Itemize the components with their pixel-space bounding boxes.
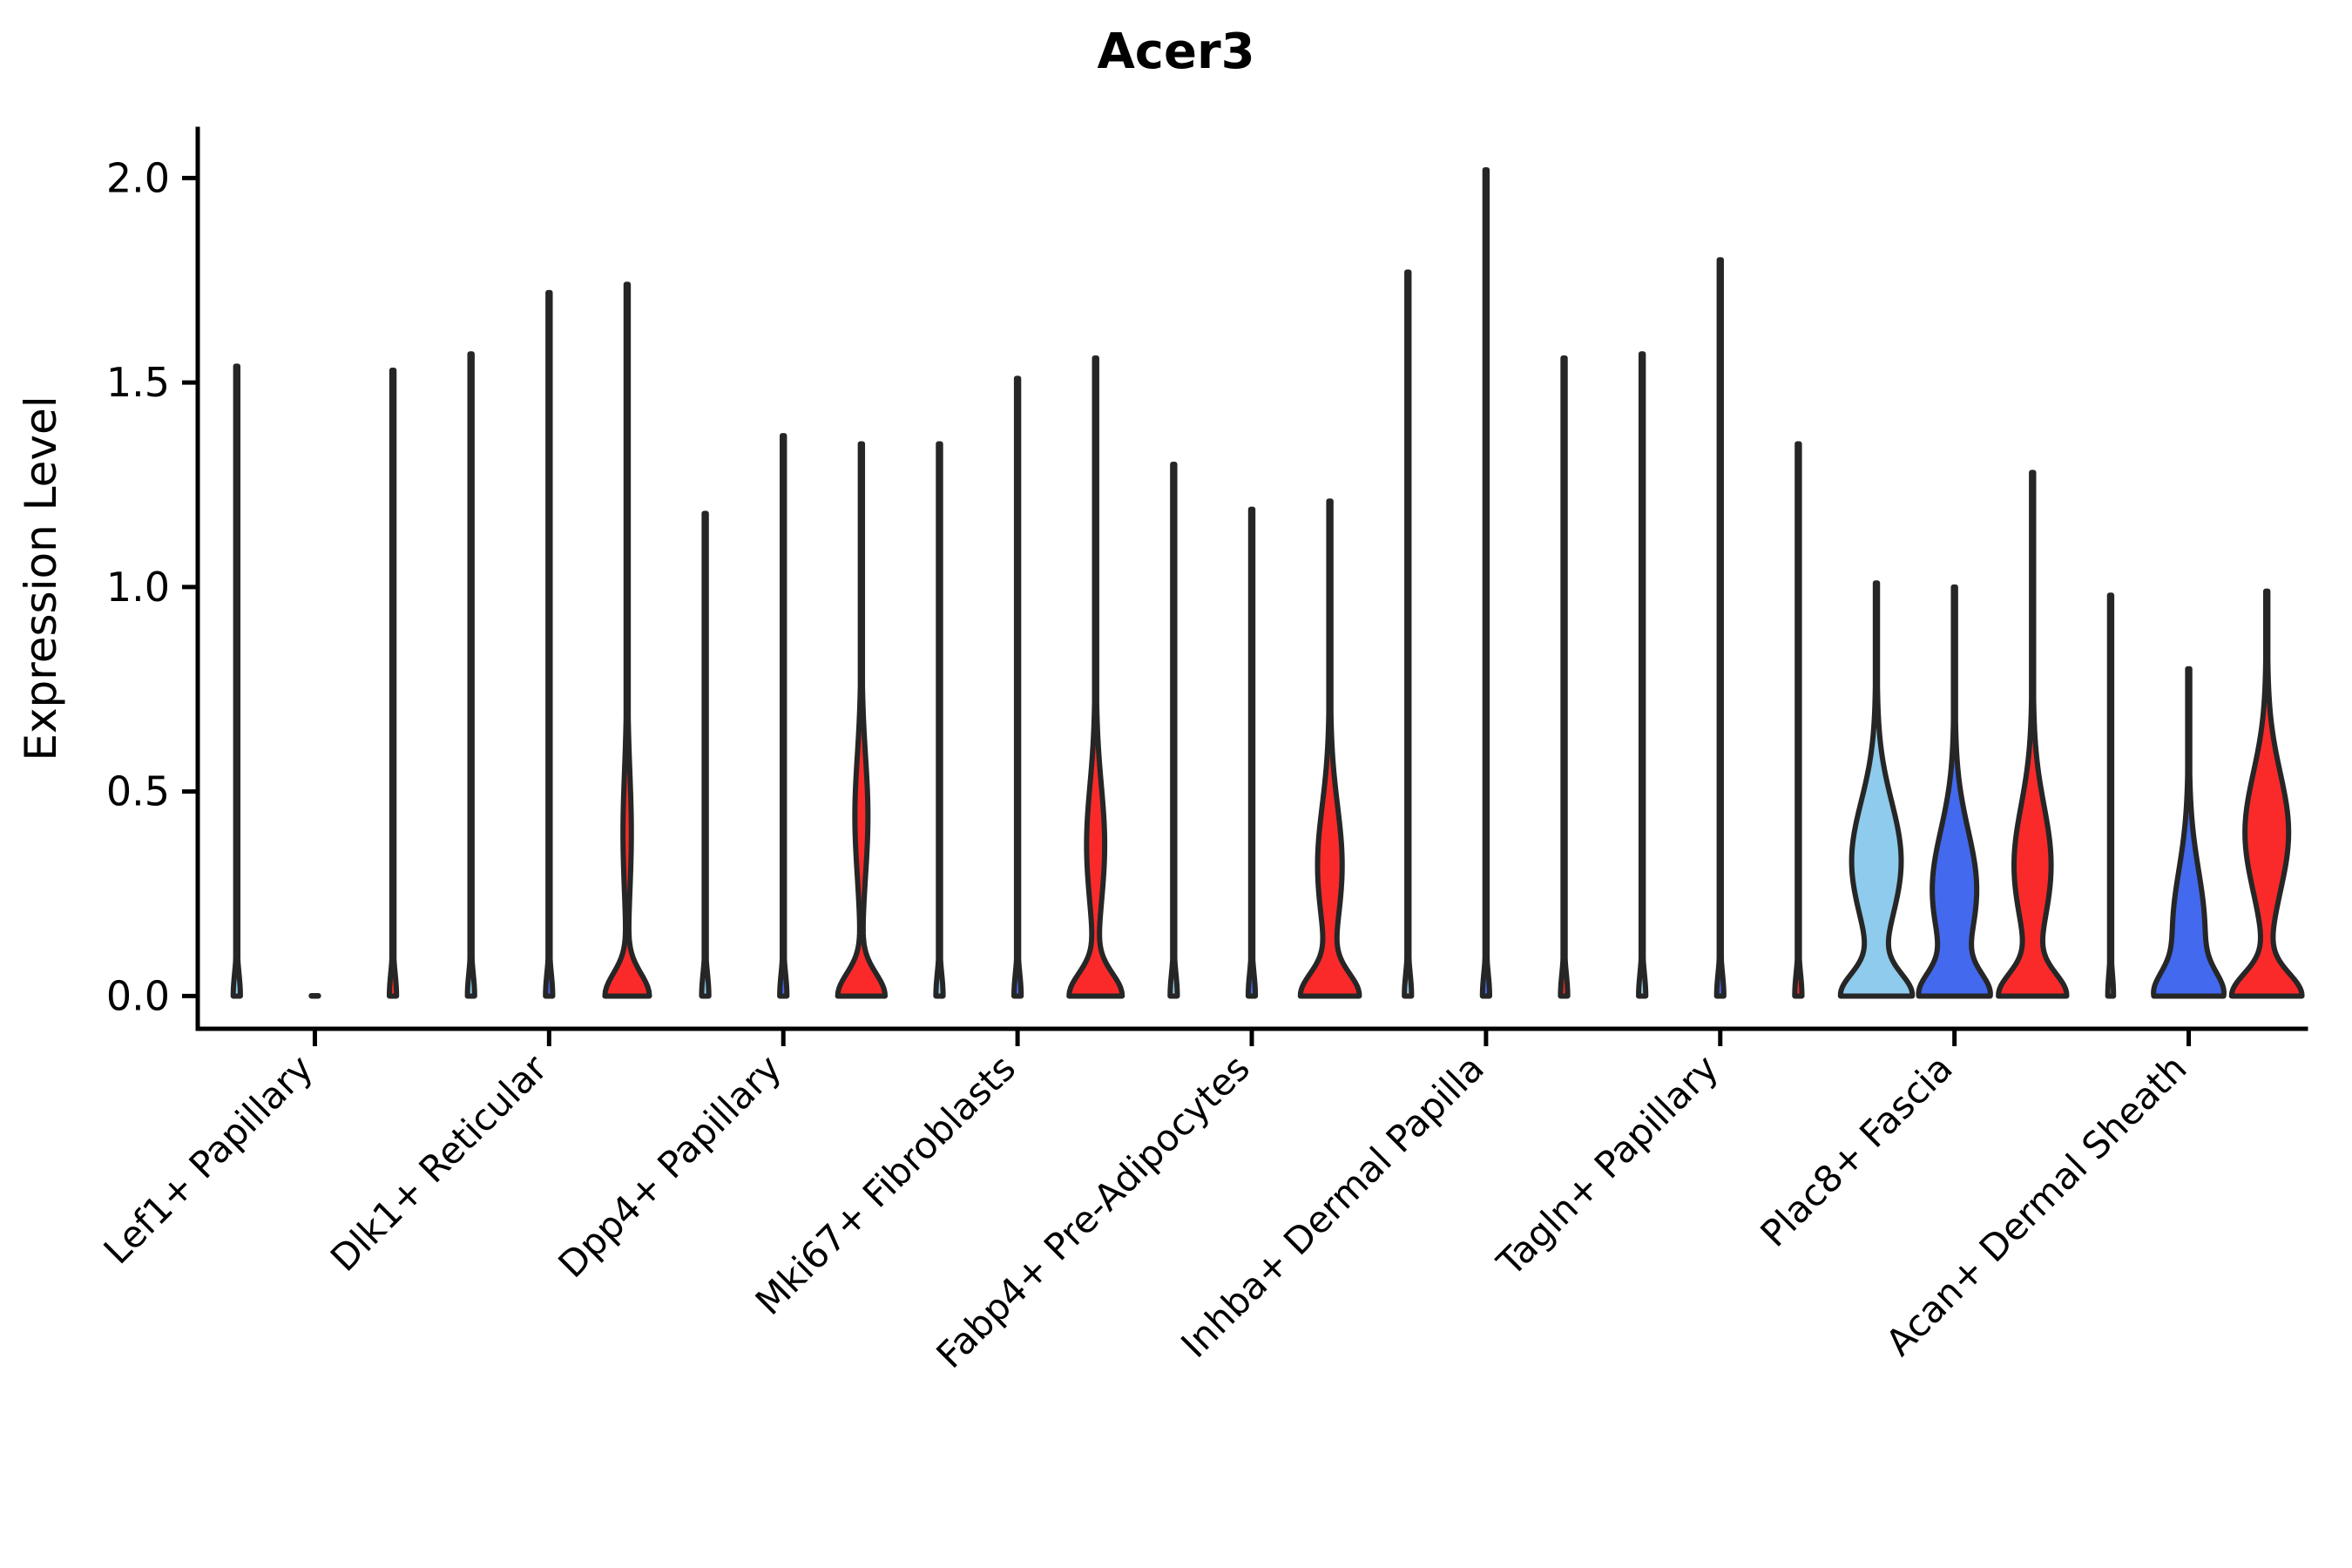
violin-plot-svg: Acer3 Expression Level 0.00.51.01.52.0 L… xyxy=(0,0,2352,1568)
violin-group-2 xyxy=(1248,510,1255,997)
page-title: Acer3 xyxy=(1097,24,1254,80)
violin-group-1 xyxy=(468,354,475,996)
x-tick-label: Tagln+ Papillary xyxy=(1488,1046,1726,1284)
violin-group-2 xyxy=(1918,587,1990,997)
y-tick-label: 0.5 xyxy=(106,768,170,815)
violin-group-3 xyxy=(1069,358,1122,996)
violin-group-1 xyxy=(1639,354,1646,996)
violin-group-1 xyxy=(936,444,943,997)
violin-group-1 xyxy=(1841,583,1912,996)
violin-group xyxy=(1639,260,1802,996)
violin-group-3 xyxy=(1560,358,1567,996)
violin-group xyxy=(233,366,397,996)
violin-group-2 xyxy=(780,436,787,996)
y-tick-label: 2.0 xyxy=(106,154,170,201)
violin-group-1 xyxy=(1170,464,1177,996)
violin-group-1 xyxy=(2108,595,2114,996)
x-tick-label: Lef1+ Papillary xyxy=(96,1046,321,1272)
x-axis-ticks: Lef1+ PapillaryDlk1+ ReticularDpp4+ Papi… xyxy=(96,1029,2195,1376)
x-tick-label: Dlk1+ Reticular xyxy=(322,1046,556,1280)
violin-group-1 xyxy=(701,513,708,996)
violin-group-3 xyxy=(1794,444,1801,997)
violin-group-3 xyxy=(1998,472,2066,996)
violin-group xyxy=(1170,464,1359,996)
x-tick-label: Dpp4+ Papillary xyxy=(550,1046,789,1286)
violin-group-2 xyxy=(545,293,552,997)
violin-group-3 xyxy=(605,284,649,996)
violin-group-1 xyxy=(1404,272,1411,996)
violin-group xyxy=(2108,591,2302,997)
violin-group-3 xyxy=(2232,591,2302,997)
violin-group xyxy=(936,358,1122,996)
violin-group xyxy=(1404,170,1568,996)
violin-group-2 xyxy=(1717,260,1724,996)
x-tick-label: Plac8+ Fascia xyxy=(1752,1046,1960,1254)
violin-group-3 xyxy=(1301,501,1360,996)
violin-group-2 xyxy=(2153,669,2224,997)
y-tick-label: 1.5 xyxy=(106,359,170,406)
y-axis-ticks: 0.00.51.01.52.0 xyxy=(106,154,198,1019)
violin-group-3 xyxy=(838,444,885,997)
violin-group xyxy=(468,284,650,996)
y-tick-label: 1.0 xyxy=(106,564,170,611)
violin-group-3 xyxy=(389,370,396,996)
y-tick-label: 0.0 xyxy=(106,972,170,1019)
y-axis-label: Expression Level xyxy=(16,395,66,760)
violin-group-2 xyxy=(1483,170,1490,996)
violin-group-2 xyxy=(1014,378,1021,996)
violin-group xyxy=(701,436,885,996)
violin-group xyxy=(1841,472,2067,996)
violin-plot-figure: Acer3 Expression Level 0.00.51.01.52.0 L… xyxy=(0,0,2352,1568)
violin-group-1 xyxy=(233,366,240,996)
x-tick-label: Mki67+ Fibroblasts xyxy=(747,1046,1024,1322)
violins-layer xyxy=(233,170,2302,996)
